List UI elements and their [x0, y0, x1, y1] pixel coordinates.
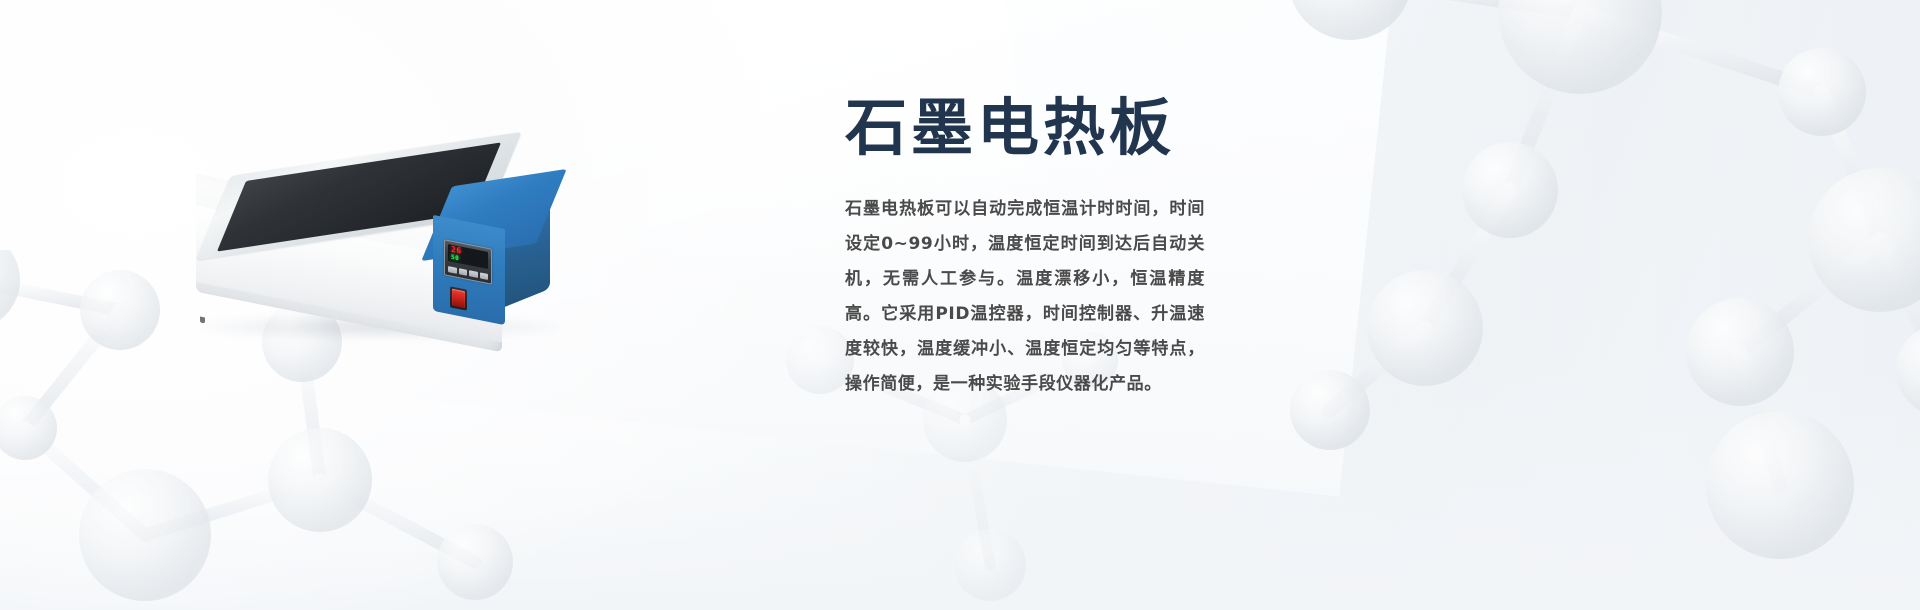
product-foot [200, 317, 205, 324]
product-banner: 26 50 石墨电热板 石墨电热板可以自动完成恒温计时时间，时间设定0~99小时… [0, 0, 1920, 610]
banner-content: 石墨电热板 石墨电热板可以自动完成恒温计时时间，时间设定0~99小时，温度恒定时… [845, 90, 1325, 402]
temperature-display: 26 50 [448, 244, 488, 269]
power-switch[interactable] [450, 286, 467, 310]
panel-button-set[interactable] [448, 266, 457, 274]
page-title: 石墨电热板 [845, 90, 1325, 166]
panel-button-down[interactable] [469, 270, 478, 278]
panel-button-up[interactable] [480, 272, 489, 280]
product-description: 石墨电热板可以自动完成恒温计时时间，时间设定0~99小时，温度恒定时间到达后自动… [845, 192, 1205, 402]
panel-button-shift[interactable] [459, 268, 468, 276]
product-image: 26 50 [178, 118, 598, 368]
power-switch-rocker[interactable] [452, 289, 465, 309]
